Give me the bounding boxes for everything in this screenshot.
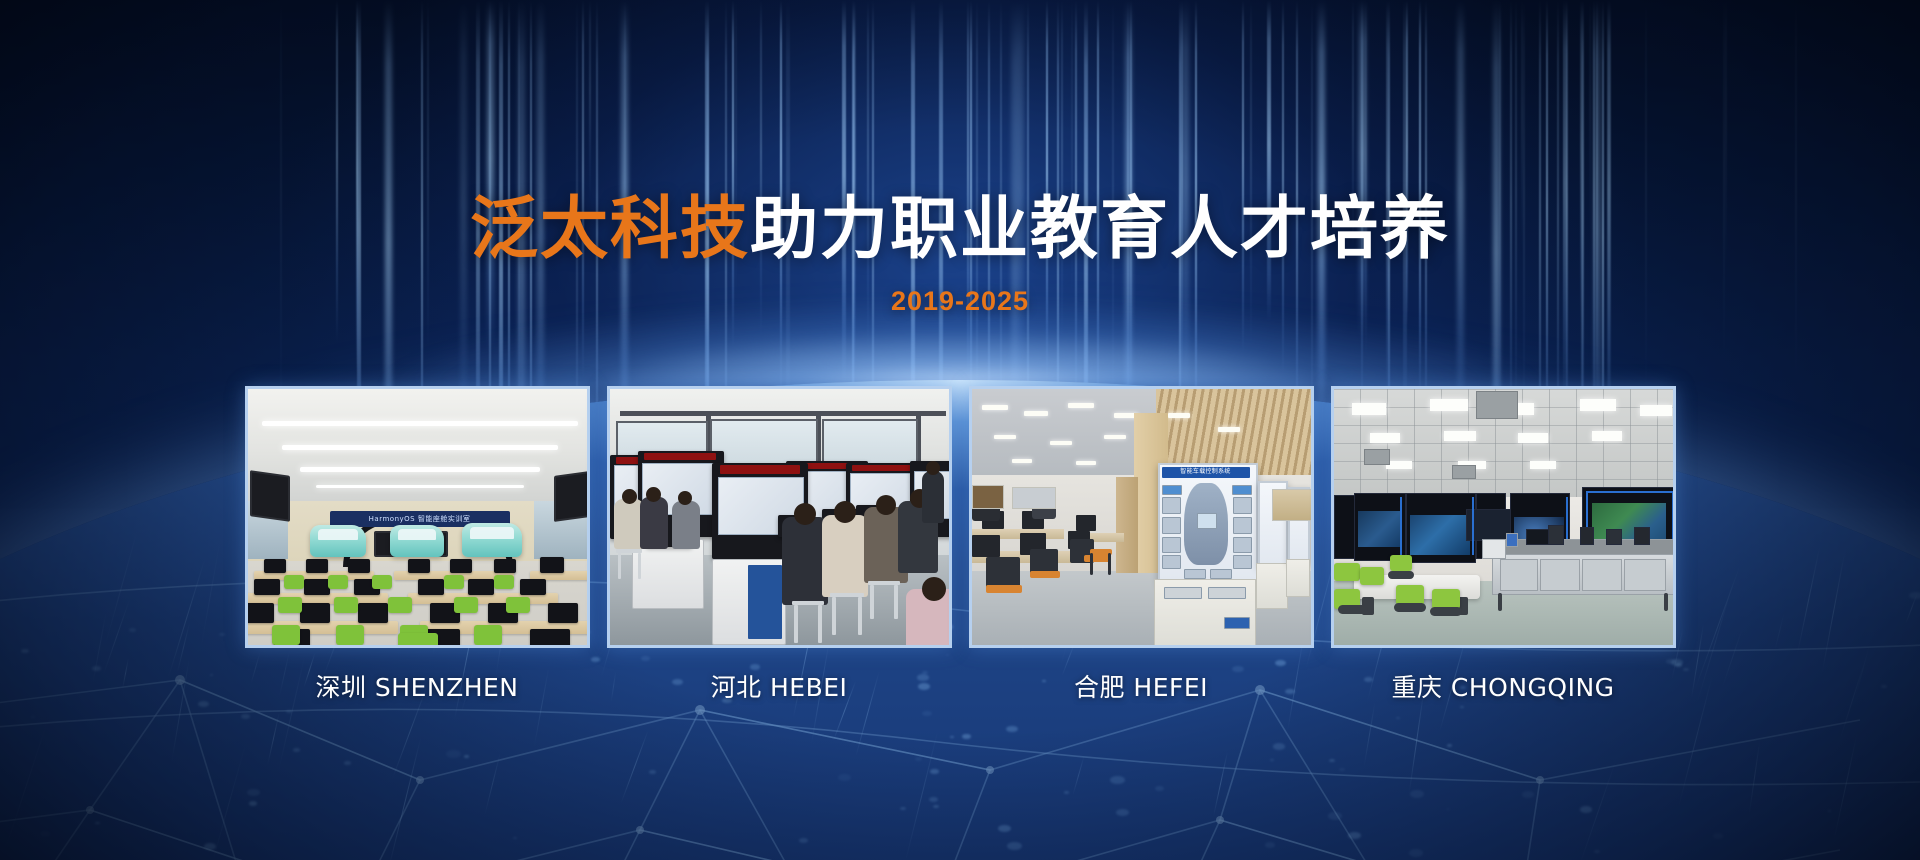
photo-gallery: HarmonyOS 智能座舱实训室 [0,386,1920,704]
photo-chongqing-smart-manufacturing-lab [1334,389,1673,645]
gallery-item-hebei[interactable]: 河北 HEBEI [607,386,952,704]
headline-block: 泛太科技助力职业教育人才培养 2019-2025 [0,196,1920,317]
title-brand: 泛太科技 [470,190,750,269]
photo-hefei-automotive-control-lab: 智能车载控制系统 [972,389,1311,645]
photo-frame [1331,386,1676,648]
gallery-item-chongqing[interactable]: 重庆 CHONGQING [1331,386,1676,704]
title-rest: 助力职业教育人才培养 [750,190,1450,269]
gallery-item-shenzhen[interactable]: HarmonyOS 智能座舱实训室 [245,386,590,704]
banner-stage: 泛太科技助力职业教育人才培养 2019-2025 HarmonyOS [0,0,1920,860]
gallery-caption: 深圳 SHENZHEN [245,668,590,704]
gallery-caption: 重庆 CHONGQING [1331,668,1676,704]
gallery-item-hefei[interactable]: 智能车载控制系统 [969,386,1314,704]
photo-hebei-electrical-training-lab [610,389,949,645]
gallery-caption: 合肥 HEFEI [969,668,1314,704]
subtitle-year-range: 2019-2025 [0,286,1920,317]
gallery-caption: 河北 HEBEI [607,668,952,704]
photo-frame: HarmonyOS 智能座舱实训室 [245,386,590,648]
photo-shenzhen-smart-cockpit-classroom: HarmonyOS 智能座舱实训室 [248,389,587,645]
photo-frame: 智能车载控制系统 [969,386,1314,648]
page-title: 泛太科技助力职业教育人才培养 [0,196,1920,264]
photo-frame [607,386,952,648]
